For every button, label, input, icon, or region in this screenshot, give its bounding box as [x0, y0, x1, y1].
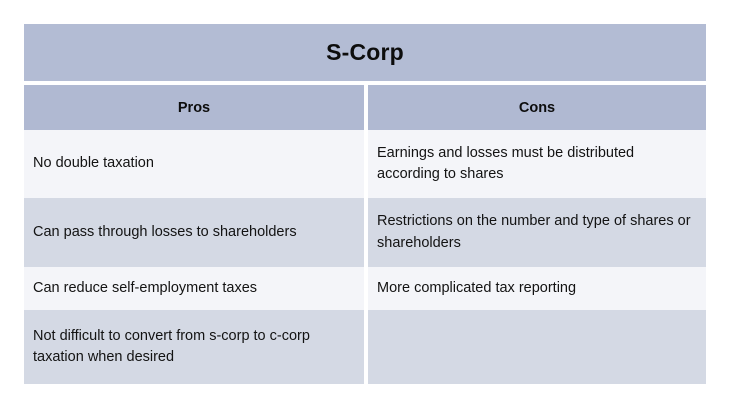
column-header-pros: Pros [24, 85, 364, 130]
table-cell-pros: No double taxation [24, 130, 364, 198]
table-row: No double taxation Earnings and losses m… [24, 130, 706, 198]
table-title: S-Corp [326, 39, 404, 66]
table-row: Not difficult to convert from s-corp to … [24, 310, 706, 384]
table-title-band: S-Corp [24, 24, 706, 81]
column-header-cons-label: Cons [519, 100, 555, 116]
table-cell-cons: Restrictions on the number and type of s… [368, 198, 706, 267]
table-cell-cons-text: More complicated tax reporting [377, 278, 576, 299]
table-cell-cons-text: Earnings and losses must be distributed … [377, 143, 694, 185]
table-cell-cons: Earnings and losses must be distributed … [368, 130, 706, 198]
table-row: Can pass through losses to shareholders … [24, 198, 706, 267]
table-cell-cons-text: Restrictions on the number and type of s… [377, 211, 694, 253]
table-header-row: Pros Cons [24, 85, 706, 130]
s-corp-pros-cons-table: S-Corp Pros Cons No double taxation Earn… [24, 24, 706, 388]
table-cell-pros: Can pass through losses to shareholders [24, 198, 364, 267]
table-cell-cons [368, 310, 706, 384]
table-cell-pros: Not difficult to convert from s-corp to … [24, 310, 364, 384]
table-cell-pros-text: Can pass through losses to shareholders [33, 222, 297, 243]
table-row: Can reduce self-employment taxes More co… [24, 267, 706, 310]
table-cell-pros: Can reduce self-employment taxes [24, 267, 364, 310]
column-header-cons: Cons [368, 85, 706, 130]
table-cell-cons: More complicated tax reporting [368, 267, 706, 310]
table-cell-pros-text: No double taxation [33, 153, 154, 174]
table-cell-pros-text: Not difficult to convert from s-corp to … [33, 326, 352, 368]
column-header-pros-label: Pros [178, 100, 210, 116]
table-cell-pros-text: Can reduce self-employment taxes [33, 278, 257, 299]
